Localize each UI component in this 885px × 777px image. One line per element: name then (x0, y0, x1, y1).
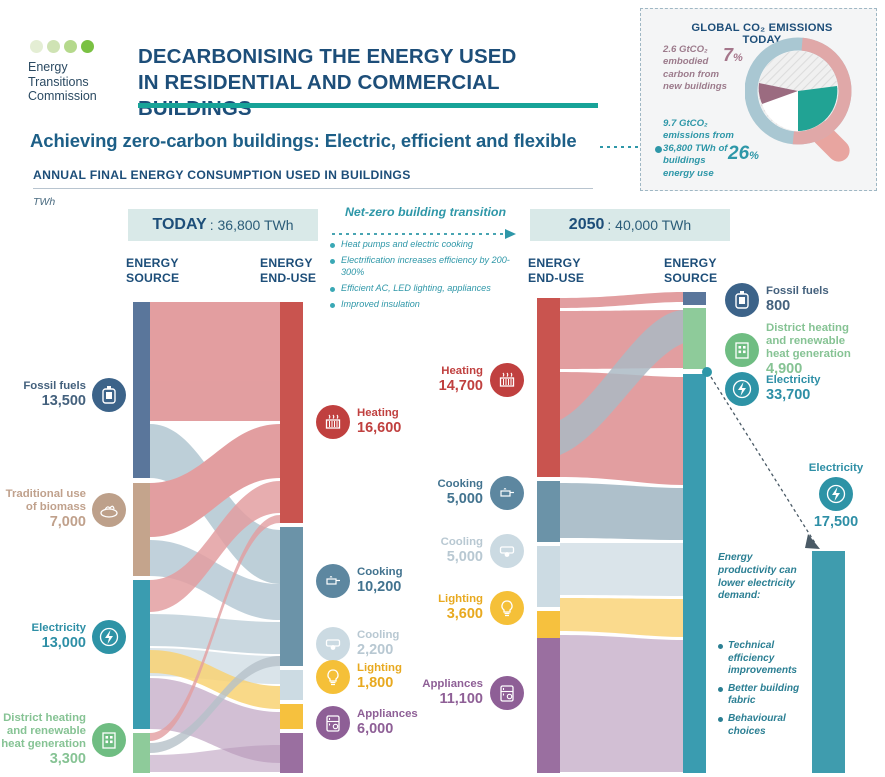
label-cooling-2050: Cooling 5,000 (424, 534, 524, 568)
co2-embodied-percent-symbol: % (733, 52, 743, 64)
node-heating-today (280, 302, 303, 523)
sankey-nodes-source-2050 (683, 292, 706, 773)
node-lighting-today (280, 704, 303, 729)
productivity-bullet: Technical efficiency improvements (718, 640, 804, 678)
label-text: District heating and renewable heat gene… (766, 322, 862, 361)
district-heating-icon (725, 333, 759, 367)
stove-icon (490, 476, 524, 510)
transition-bullet: Efficient AC, LED lighting, appliances (330, 283, 515, 294)
electricity-icon (819, 477, 853, 511)
label-text: Cooking (437, 478, 483, 491)
label-district-heating-2050: District heating and renewable heat gene… (725, 322, 862, 378)
kicker-divider (33, 188, 593, 189)
label-electricity-2050: Electricity 33,700 (725, 372, 820, 406)
lightbulb-icon (316, 660, 350, 694)
node-appliances-2050 (537, 638, 560, 773)
etc-logo-dots (30, 40, 100, 54)
page-title: DECARBONISING THE ENERGY USED IN RESIDEN… (138, 44, 608, 122)
label-text: Electricity (32, 622, 86, 635)
transition-bullet: Improved insulation (330, 299, 515, 310)
label-value: 16,600 (357, 420, 401, 437)
sankey-nodes-enduse-today (280, 302, 303, 773)
label-cooking-2050: Cooking 5,000 (424, 476, 524, 510)
column-header-source-2050: ENERGYSOURCE (664, 256, 754, 286)
node-appliances-today (280, 733, 303, 773)
energy-productivity-note: Energy productivity can lower electricit… (718, 552, 798, 603)
label-lighting-today: Lighting 1,800 (316, 660, 402, 694)
label-text: Lighting (357, 662, 402, 675)
label-fossil-fuels-2050: Fossil fuels 800 (725, 283, 829, 317)
label-text: Traditional use of biomass (0, 488, 86, 514)
label-value: 33,700 (766, 387, 820, 404)
label-text: Lighting (438, 593, 483, 606)
node-cooling-today (280, 670, 303, 700)
label-value: 14,700 (439, 378, 483, 395)
label-text: Cooling (441, 536, 483, 549)
lightbulb-icon (490, 591, 524, 625)
sankey-flows-today (150, 302, 280, 772)
node-fossil-fuels-today (133, 302, 150, 478)
biomass-icon (92, 493, 126, 527)
magnifier-pie-graphic (745, 36, 875, 186)
label-fossil-fuels-today: Fossil fuels 13,500 (8, 378, 126, 412)
label-text: Heating (357, 407, 401, 420)
band-2050-value: : 40,000 TWh (607, 217, 691, 233)
band-today-value: : 36,800 TWh (210, 217, 294, 233)
label-value: 7,000 (0, 514, 86, 531)
column-header-enduse-2050: ENERGYEND-USE (528, 256, 618, 286)
label-appliances-2050: Appliances 11,100 (416, 676, 524, 710)
electricity-connector-arrowhead (805, 534, 820, 549)
label-value: 1,800 (357, 675, 402, 692)
air-conditioner-icon (316, 627, 350, 661)
transition-title: Net-zero building transition (338, 205, 513, 219)
etc-logo-wordmark: Energy Transitions Commission (28, 60, 118, 104)
label-cooking-today: Cooking 10,200 (316, 564, 403, 598)
radiator-icon (490, 363, 524, 397)
label-value: 2,200 (357, 642, 399, 659)
fridge-icon (316, 706, 350, 740)
label-text: Appliances (422, 678, 483, 691)
sankey-flows-2050 (560, 292, 695, 772)
column-header-enduse-today: ENERGYEND-USE (260, 256, 350, 286)
label-value: 800 (766, 298, 829, 315)
logo-line-3: Commission (28, 89, 118, 104)
column-header-source-today: ENERGYSOURCE (126, 256, 216, 286)
logo-line-2: Transitions (28, 75, 118, 90)
label-value: 13,000 (32, 635, 86, 652)
band-2050-label: 2050 (569, 216, 605, 234)
transition-bullet: Heat pumps and electric cooking (330, 239, 515, 250)
callout-value: 17,500 (790, 514, 882, 530)
node-cooking-2050 (537, 481, 560, 542)
logo-line-1: Energy (28, 60, 118, 75)
radiator-icon (316, 405, 350, 439)
node-fossil-fuels-2050 (683, 292, 706, 305)
label-district-heating-today: District heating and renewable heat gene… (0, 712, 126, 768)
electricity-connector-dot (702, 367, 712, 377)
transition-bullets: Heat pumps and electric cooking Electrif… (330, 239, 515, 315)
chart-kicker-label: ANNUAL FINAL ENERGY CONSUMPTION USED IN … (33, 168, 593, 182)
node-district-heating-today (133, 733, 150, 773)
label-value: 3,300 (0, 751, 86, 768)
label-value: 10,200 (357, 579, 403, 596)
label-value: 6,000 (357, 721, 418, 738)
band-today: TODAY: 36,800 TWh (128, 209, 318, 241)
label-biomass-today: Traditional use of biomass 7,000 (0, 488, 126, 531)
label-text: Heating (439, 365, 483, 378)
productivity-bullet: Better building fabric (718, 683, 804, 708)
label-text: Cooking (357, 566, 403, 579)
co2-embodied-percent-value: 7 (723, 45, 733, 65)
label-heating-today: Heating 16,600 (316, 405, 401, 439)
co2-embodied-percent: 7% (723, 45, 743, 66)
fossil-fuel-icon (725, 283, 759, 317)
electricity-demand-callout: Electricity 17,500 (790, 462, 882, 530)
label-heating-2050: Heating 14,700 (424, 363, 524, 397)
label-electricity-today: Electricity 13,000 (8, 620, 126, 654)
node-electricity-2050 (683, 374, 706, 773)
band-2050: 2050: 40,000 TWh (530, 209, 730, 241)
fridge-icon (490, 676, 524, 710)
transition-arrow-icon (330, 229, 520, 239)
node-district-heating-2050 (683, 308, 706, 369)
label-cooling-today: Cooling 2,200 (316, 627, 399, 661)
fossil-fuel-icon (92, 378, 126, 412)
page-subtitle: Achieving zero-carbon buildings: Electri… (30, 130, 610, 152)
label-text: Fossil fuels (766, 285, 829, 298)
node-heating-2050 (537, 298, 560, 477)
label-text: Appliances (357, 708, 418, 721)
node-electricity-today (133, 580, 150, 729)
electricity-icon (725, 372, 759, 406)
node-biomass-today (133, 483, 150, 576)
page-title-line-2: IN RESIDENTIAL AND COMMERCIAL BUILDINGS (138, 70, 608, 122)
co2-operational-text: 9.7 GtCO₂ emissions from 36,800 TWh of b… (663, 118, 737, 180)
band-today-label: TODAY (152, 216, 206, 234)
productivity-bullet: Behavioural choices (718, 713, 804, 738)
electricity-icon (92, 620, 126, 654)
label-appliances-today: Appliances 6,000 (316, 706, 418, 740)
label-value: 5,000 (441, 549, 483, 566)
node-lighting-2050 (537, 611, 560, 654)
transition-bullet: Electrification increases efficiency by … (330, 255, 515, 278)
label-text: Cooling (357, 629, 399, 642)
label-value: 11,100 (422, 691, 483, 708)
title-underline-rule (138, 103, 598, 108)
sankey-nodes-source-today (133, 302, 150, 773)
electricity-demand-bar (812, 551, 845, 773)
stove-icon (316, 564, 350, 598)
callout-title: Electricity (790, 462, 882, 474)
label-value: 13,500 (23, 393, 86, 410)
label-lighting-2050: Lighting 3,600 (424, 591, 524, 625)
label-value: 5,000 (437, 491, 483, 508)
page-title-line-1: DECARBONISING THE ENERGY USED (138, 44, 608, 70)
node-cooking-today (280, 527, 303, 666)
node-cooling-2050 (537, 546, 560, 607)
co2-connector-dot (655, 146, 662, 153)
air-conditioner-icon (490, 534, 524, 568)
label-text: District heating and renewable heat gene… (0, 712, 86, 751)
label-text: Electricity (766, 374, 820, 387)
sankey-nodes-enduse-2050 (537, 298, 560, 773)
axis-unit-label: TWh (33, 196, 55, 208)
district-heating-icon (92, 723, 126, 757)
label-text: Fossil fuels (23, 380, 86, 393)
energy-productivity-bullets: Technical efficiency improvements Better… (718, 640, 804, 743)
label-value: 3,600 (438, 606, 483, 623)
